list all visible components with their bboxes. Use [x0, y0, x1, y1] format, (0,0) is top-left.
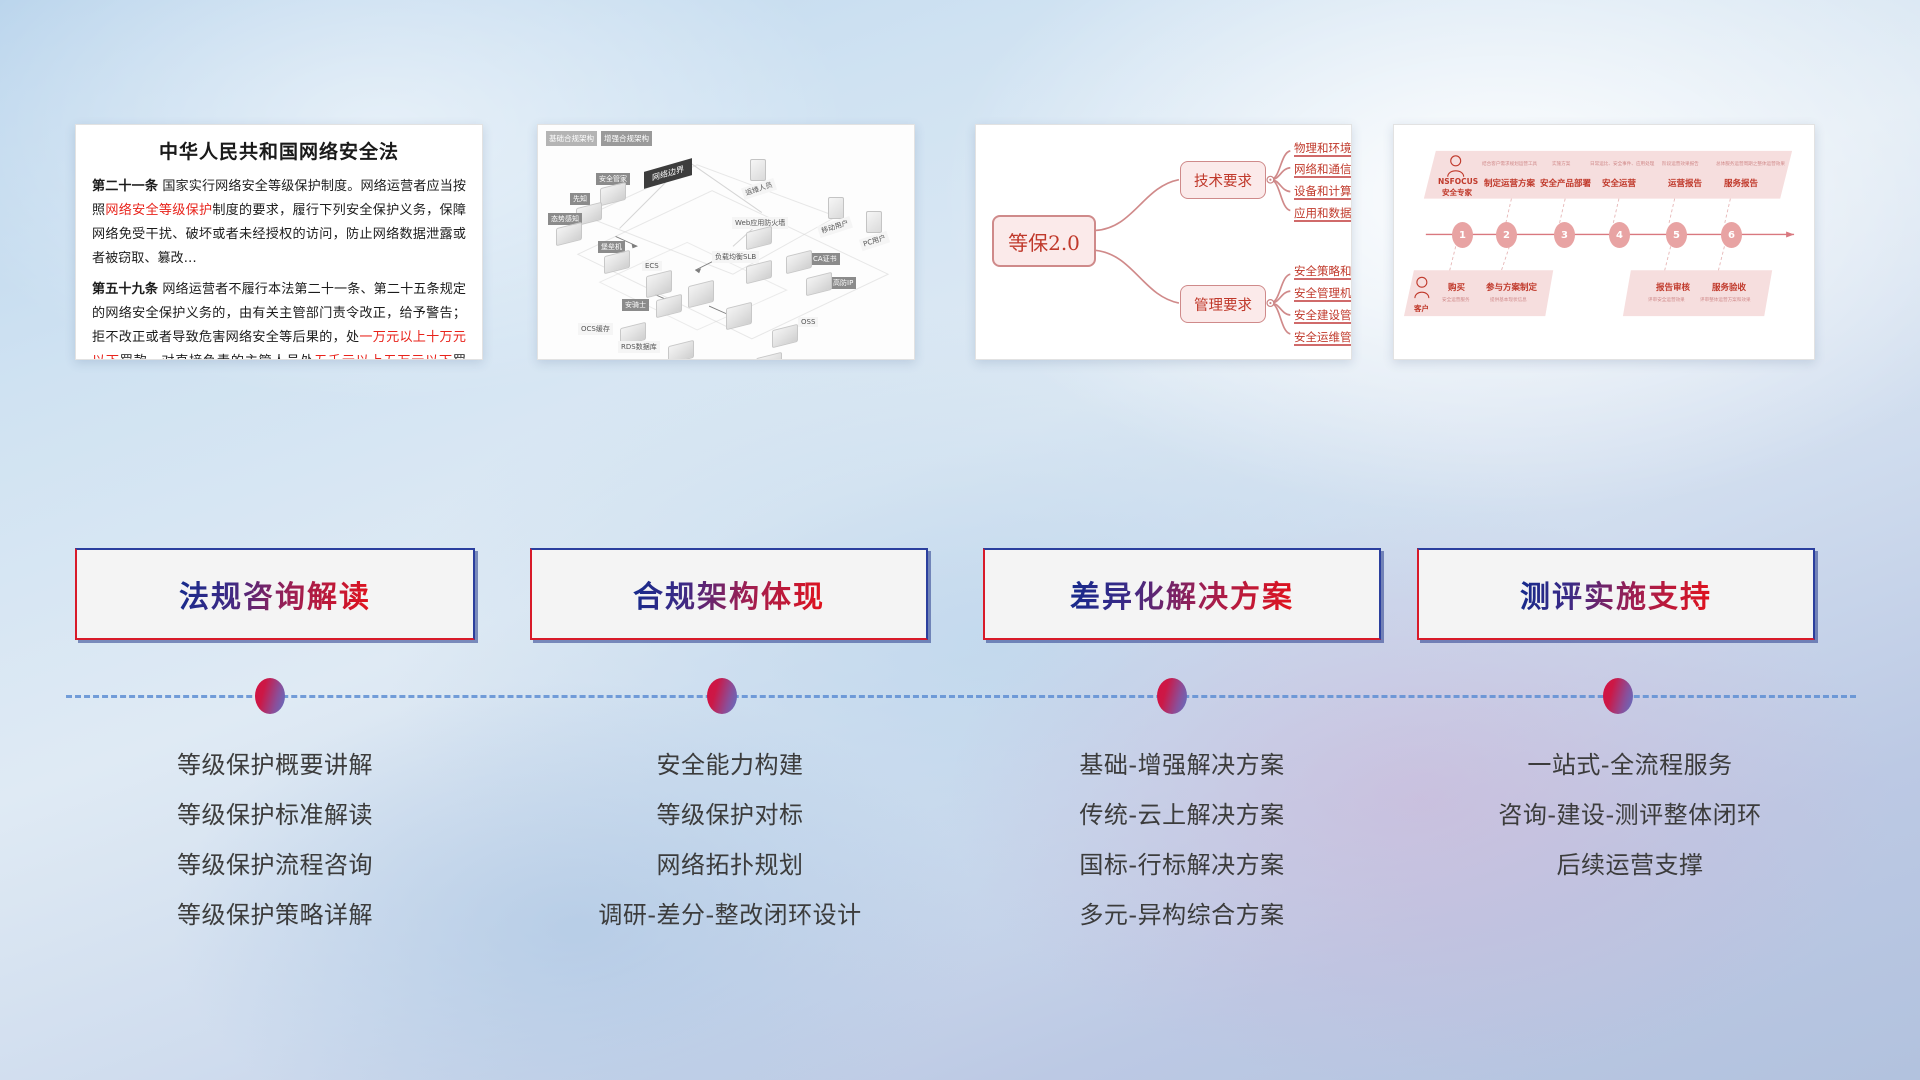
title-label: 测评实施支持 — [1520, 572, 1712, 616]
process-step-sub: 结合客户需求规划运营工具 — [1482, 161, 1537, 167]
process-step-sub: 提供基本现状信息 — [1490, 297, 1527, 303]
process-step-sub: 总体服务运营周期之整体运营效果 — [1716, 161, 1785, 167]
law-title: 中华人民共和国网络安全法 — [92, 137, 466, 164]
process-step-title[interactable]: 购买 — [1448, 281, 1465, 293]
law-content: 中华人民共和国网络安全法 第二十一条 国家实行网络安全等级保护制度。网络运营者应… — [76, 125, 482, 360]
node-slb: 负载均衡SLB — [746, 263, 772, 281]
process-step-title[interactable]: 参与方案制定 — [1486, 281, 1537, 293]
node-oss: OSS — [772, 327, 798, 345]
node-vpc: VPC — [756, 355, 782, 360]
evidence-card-row: 中华人民共和国网络安全法 第二十一条 国家实行网络安全等级保护制度。网络运营者应… — [0, 124, 1920, 364]
node-rds-database: RDS数据库 — [668, 343, 694, 360]
node-label: Web应用防火墙 — [732, 217, 788, 229]
timeline-dashed-line — [66, 695, 1856, 698]
mindmap-leaf[interactable]: 安全建设管理 — [1294, 307, 1352, 323]
mindmap-branch-management[interactable]: 管理要求 — [1180, 285, 1266, 323]
process-step-sub: 阶段运营效果报告 — [1662, 161, 1699, 167]
list-item: 国标-行标解决方案 — [962, 840, 1402, 890]
process-step-title[interactable]: 报告审核 — [1656, 281, 1690, 293]
mindmap-root[interactable]: 等保2.0 — [992, 215, 1096, 267]
node-label: ECS — [642, 261, 662, 271]
process-step-title[interactable]: 制定运营方案 — [1484, 177, 1535, 189]
mindmap-leaf[interactable]: 安全运维管理 — [1294, 329, 1352, 345]
process-step-sub: 日常运比、安全事件、应用处理 — [1590, 161, 1654, 167]
service-column-3: 基础-增强解决方案 传统-云上解决方案 国标-行标解决方案 多元-异构综合方案 — [962, 740, 1402, 940]
process-node-5[interactable]: 5 — [1666, 222, 1687, 248]
mindmap-leaf[interactable]: 物理和环境安全 — [1294, 140, 1352, 156]
node-label: 负载均衡SLB — [712, 251, 759, 263]
timeline-marker-3[interactable] — [1157, 678, 1187, 714]
mindmap-card[interactable]: 等保2.0 技术要求 管理要求 物理和环境安全 网络和通信安全 设备和计算安全 … — [975, 124, 1352, 360]
list-item: 等级保护流程咨询 — [55, 840, 495, 890]
process-actor-nsfocus-line1: NSFOCUS — [1438, 177, 1478, 186]
node-bastion-host: 堡垒机 — [604, 253, 630, 271]
article-21-highlight: 网络安全等级保护 — [105, 203, 212, 218]
process-step-sub: 评审安全运营效果 — [1648, 297, 1685, 303]
title-label: 法规咨询解读 — [179, 572, 371, 616]
service-column-1: 等级保护概要讲解 等级保护标准解读 等级保护流程咨询 等级保护策略详解 — [55, 740, 495, 940]
mindmap-leaf[interactable]: 安全策略和管理制度 — [1294, 263, 1352, 279]
title-box-regulation-consulting[interactable]: 法规咨询解读 — [75, 548, 475, 640]
node-security-butler: 安全管家 — [600, 185, 626, 203]
node-waf: Web应用防火墙 — [746, 229, 772, 247]
mindmap-leaf[interactable]: 网络和通信安全 — [1294, 161, 1352, 177]
title-box-differentiated-solution[interactable]: 差异化解决方案 — [983, 548, 1381, 640]
process-actor-customer: 客户 — [1414, 303, 1429, 314]
list-item: 等级保护概要讲解 — [55, 740, 495, 790]
list-item: 调研-差分-整改闭环设计 — [510, 890, 950, 940]
list-item: 咨询-建设-测评整体闭环 — [1410, 790, 1850, 840]
title-box-evaluation-support[interactable]: 测评实施支持 — [1417, 548, 1815, 640]
list-item: 等级保护标准解读 — [55, 790, 495, 840]
node-label: VPC — [732, 359, 752, 360]
list-item: 等级保护策略详解 — [55, 890, 495, 940]
process-card[interactable]: NSFOCUS 安全专家 客户 结合客户需求规划运营工具 制定运营方案 实施方案… — [1393, 124, 1815, 360]
architecture-card[interactable]: 基础合规架构 增强合规架构 — [537, 124, 915, 360]
node-label: 安骑士 — [622, 299, 649, 311]
process-node-2[interactable]: 2 — [1496, 222, 1517, 248]
node-ecs: ECS — [646, 273, 672, 295]
node-label: CA证书 — [810, 253, 840, 265]
list-item: 后续运营支撑 — [1410, 840, 1850, 890]
list-item: 网络拓扑规划 — [510, 840, 950, 890]
title-box-row: 法规咨询解读 合规架构体现 差异化解决方案 测评实施支持 — [0, 548, 1920, 640]
list-item: 一站式-全流程服务 — [1410, 740, 1850, 790]
node-anqishi: 安骑士 — [656, 297, 682, 315]
list-item: 安全能力构建 — [510, 740, 950, 790]
node-label: 先知 — [570, 193, 590, 205]
process-step-title[interactable]: 安全产品部署 — [1540, 177, 1591, 189]
mindmap-branch-technical[interactable]: 技术要求 — [1180, 161, 1266, 199]
process-step-title[interactable]: 安全运营 — [1602, 177, 1636, 189]
title-label: 差异化解决方案 — [1070, 572, 1294, 616]
service-column-2: 安全能力构建 等级保护对标 网络拓扑规划 调研-差分-整改闭环设计 — [510, 740, 950, 940]
title-label: 合规架构体现 — [633, 572, 825, 616]
law-article-21: 第二十一条 国家实行网络安全等级保护制度。网络运营者应当按照网络安全等级保护制度… — [92, 175, 466, 271]
node-label: OCS缓存 — [578, 323, 613, 335]
node-mobile-user: 移动用户 — [828, 197, 844, 219]
process-step-sub: 评审整体运营方案和效果 — [1700, 297, 1751, 303]
architecture-diagram: 基础合规架构 增强合规架构 — [538, 125, 914, 359]
timeline-marker-2[interactable] — [707, 678, 737, 714]
node-ops-personnel: 运维人员 — [750, 159, 766, 181]
process-step-title[interactable]: 服务报告 — [1724, 177, 1758, 189]
process-actor-nsfocus-line2: 安全专家 — [1442, 187, 1472, 198]
timeline-marker-4[interactable] — [1603, 678, 1633, 714]
law-card[interactable]: 中华人民共和国网络安全法 第二十一条 国家实行网络安全等级保护制度。网络运营者应… — [75, 124, 483, 360]
node-ca-certificate: CA证书 — [786, 253, 812, 271]
article-21-label: 第二十一条 — [92, 179, 158, 194]
mindmap-leaf[interactable]: 设备和计算安全 — [1294, 183, 1352, 199]
process-step-sub: 安全运营服务 — [1442, 297, 1470, 303]
list-item: 多元-异构综合方案 — [962, 890, 1402, 940]
node-anti-ddos-ip: 高防IP — [806, 275, 832, 293]
node-ecs-storage — [688, 283, 714, 305]
timeline-marker-1[interactable] — [255, 678, 285, 714]
title-box-compliance-architecture[interactable]: 合规架构体现 — [530, 548, 928, 640]
node-pc-user: PC用户 — [866, 211, 882, 233]
process-diagram: NSFOCUS 安全专家 客户 结合客户需求规划运营工具 制定运营方案 实施方案… — [1394, 125, 1814, 359]
mindmap-leaf[interactable]: 应用和数据安全 — [1294, 205, 1352, 221]
service-column-4: 一站式-全流程服务 咨询-建设-测评整体闭环 后续运营支撑 — [1410, 740, 1850, 890]
process-node-3[interactable]: 3 — [1554, 222, 1575, 248]
node-label: 高防IP — [830, 277, 856, 289]
node-situational-awareness: 态势感知 — [556, 225, 582, 243]
law-article-59: 第五十九条 网络运营者不履行本法第二十一条、第二十五条规定的网络安全保护义务的，… — [92, 278, 466, 360]
mindmap-leaf[interactable]: 安全管理机构和人员 — [1294, 285, 1352, 301]
process-node-6[interactable]: 6 — [1721, 222, 1742, 248]
node-label: RDS数据库 — [618, 341, 660, 353]
node-ecs-storage-2 — [726, 305, 752, 327]
list-item: 等级保护对标 — [510, 790, 950, 840]
process-step-sub: 实施方案 — [1552, 161, 1570, 167]
article-59-highlight-2: 五千元以上五万元以下 — [314, 354, 453, 360]
article-59-part2: 罚款，对直接负责的主管人员处 — [120, 354, 314, 360]
list-item: 基础-增强解决方案 — [962, 740, 1402, 790]
process-step-title[interactable]: 服务验收 — [1712, 281, 1746, 293]
mindmap-diagram: 等保2.0 技术要求 管理要求 物理和环境安全 网络和通信安全 设备和计算安全 … — [976, 125, 1351, 359]
list-item: 传统-云上解决方案 — [962, 790, 1402, 840]
article-59-label: 第五十九条 — [92, 282, 158, 297]
process-node-1[interactable]: 1 — [1452, 222, 1473, 248]
process-node-4[interactable]: 4 — [1609, 222, 1630, 248]
node-label: OSS — [798, 317, 818, 327]
process-step-title[interactable]: 运营报告 — [1668, 177, 1702, 189]
